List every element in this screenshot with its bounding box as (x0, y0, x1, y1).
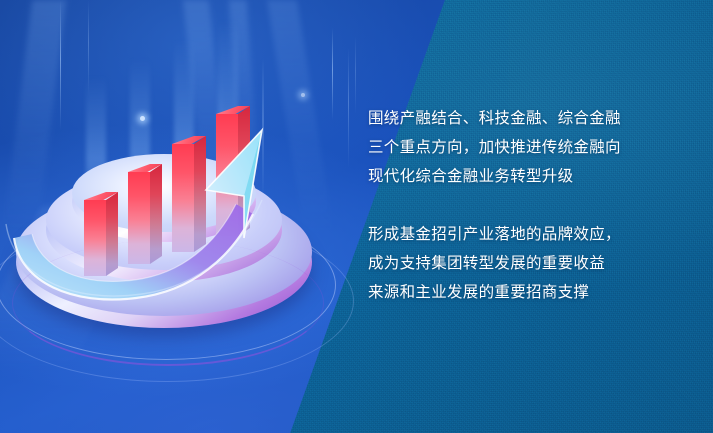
copy-block: 围绕产融结合、科技金融、综合金融 三个重点方向，加快推进传统金融向 现代化综合金… (368, 104, 690, 307)
paragraph-2-line-1: 形成基金招引产业落地的品牌效应， (368, 220, 690, 249)
paragraph-2-line-3: 来源和主业发展的重要招商支撑 (368, 278, 690, 307)
paragraph-1-line-3: 现代化综合金融业务转型升级 (368, 162, 690, 191)
paragraph-1-line-1: 围绕产融结合、科技金融、综合金融 (368, 104, 690, 133)
paragraph-1: 围绕产融结合、科技金融、综合金融 三个重点方向，加快推进传统金融向 现代化综合金… (368, 104, 690, 191)
promo-banner: 围绕产融结合、科技金融、综合金融 三个重点方向，加快推进传统金融向 现代化综合金… (0, 0, 713, 433)
paragraph-2: 形成基金招引产业落地的品牌效应， 成为支持集团转型发展的重要收益 来源和主业发展… (368, 220, 690, 307)
paragraph-2-line-2: 成为支持集团转型发展的重要收益 (368, 249, 690, 278)
paragraph-1-line-2: 三个重点方向，加快推进传统金融向 (368, 133, 690, 162)
illustration-3d-chart (10, 92, 330, 342)
rising-arrow-icon (10, 92, 330, 342)
